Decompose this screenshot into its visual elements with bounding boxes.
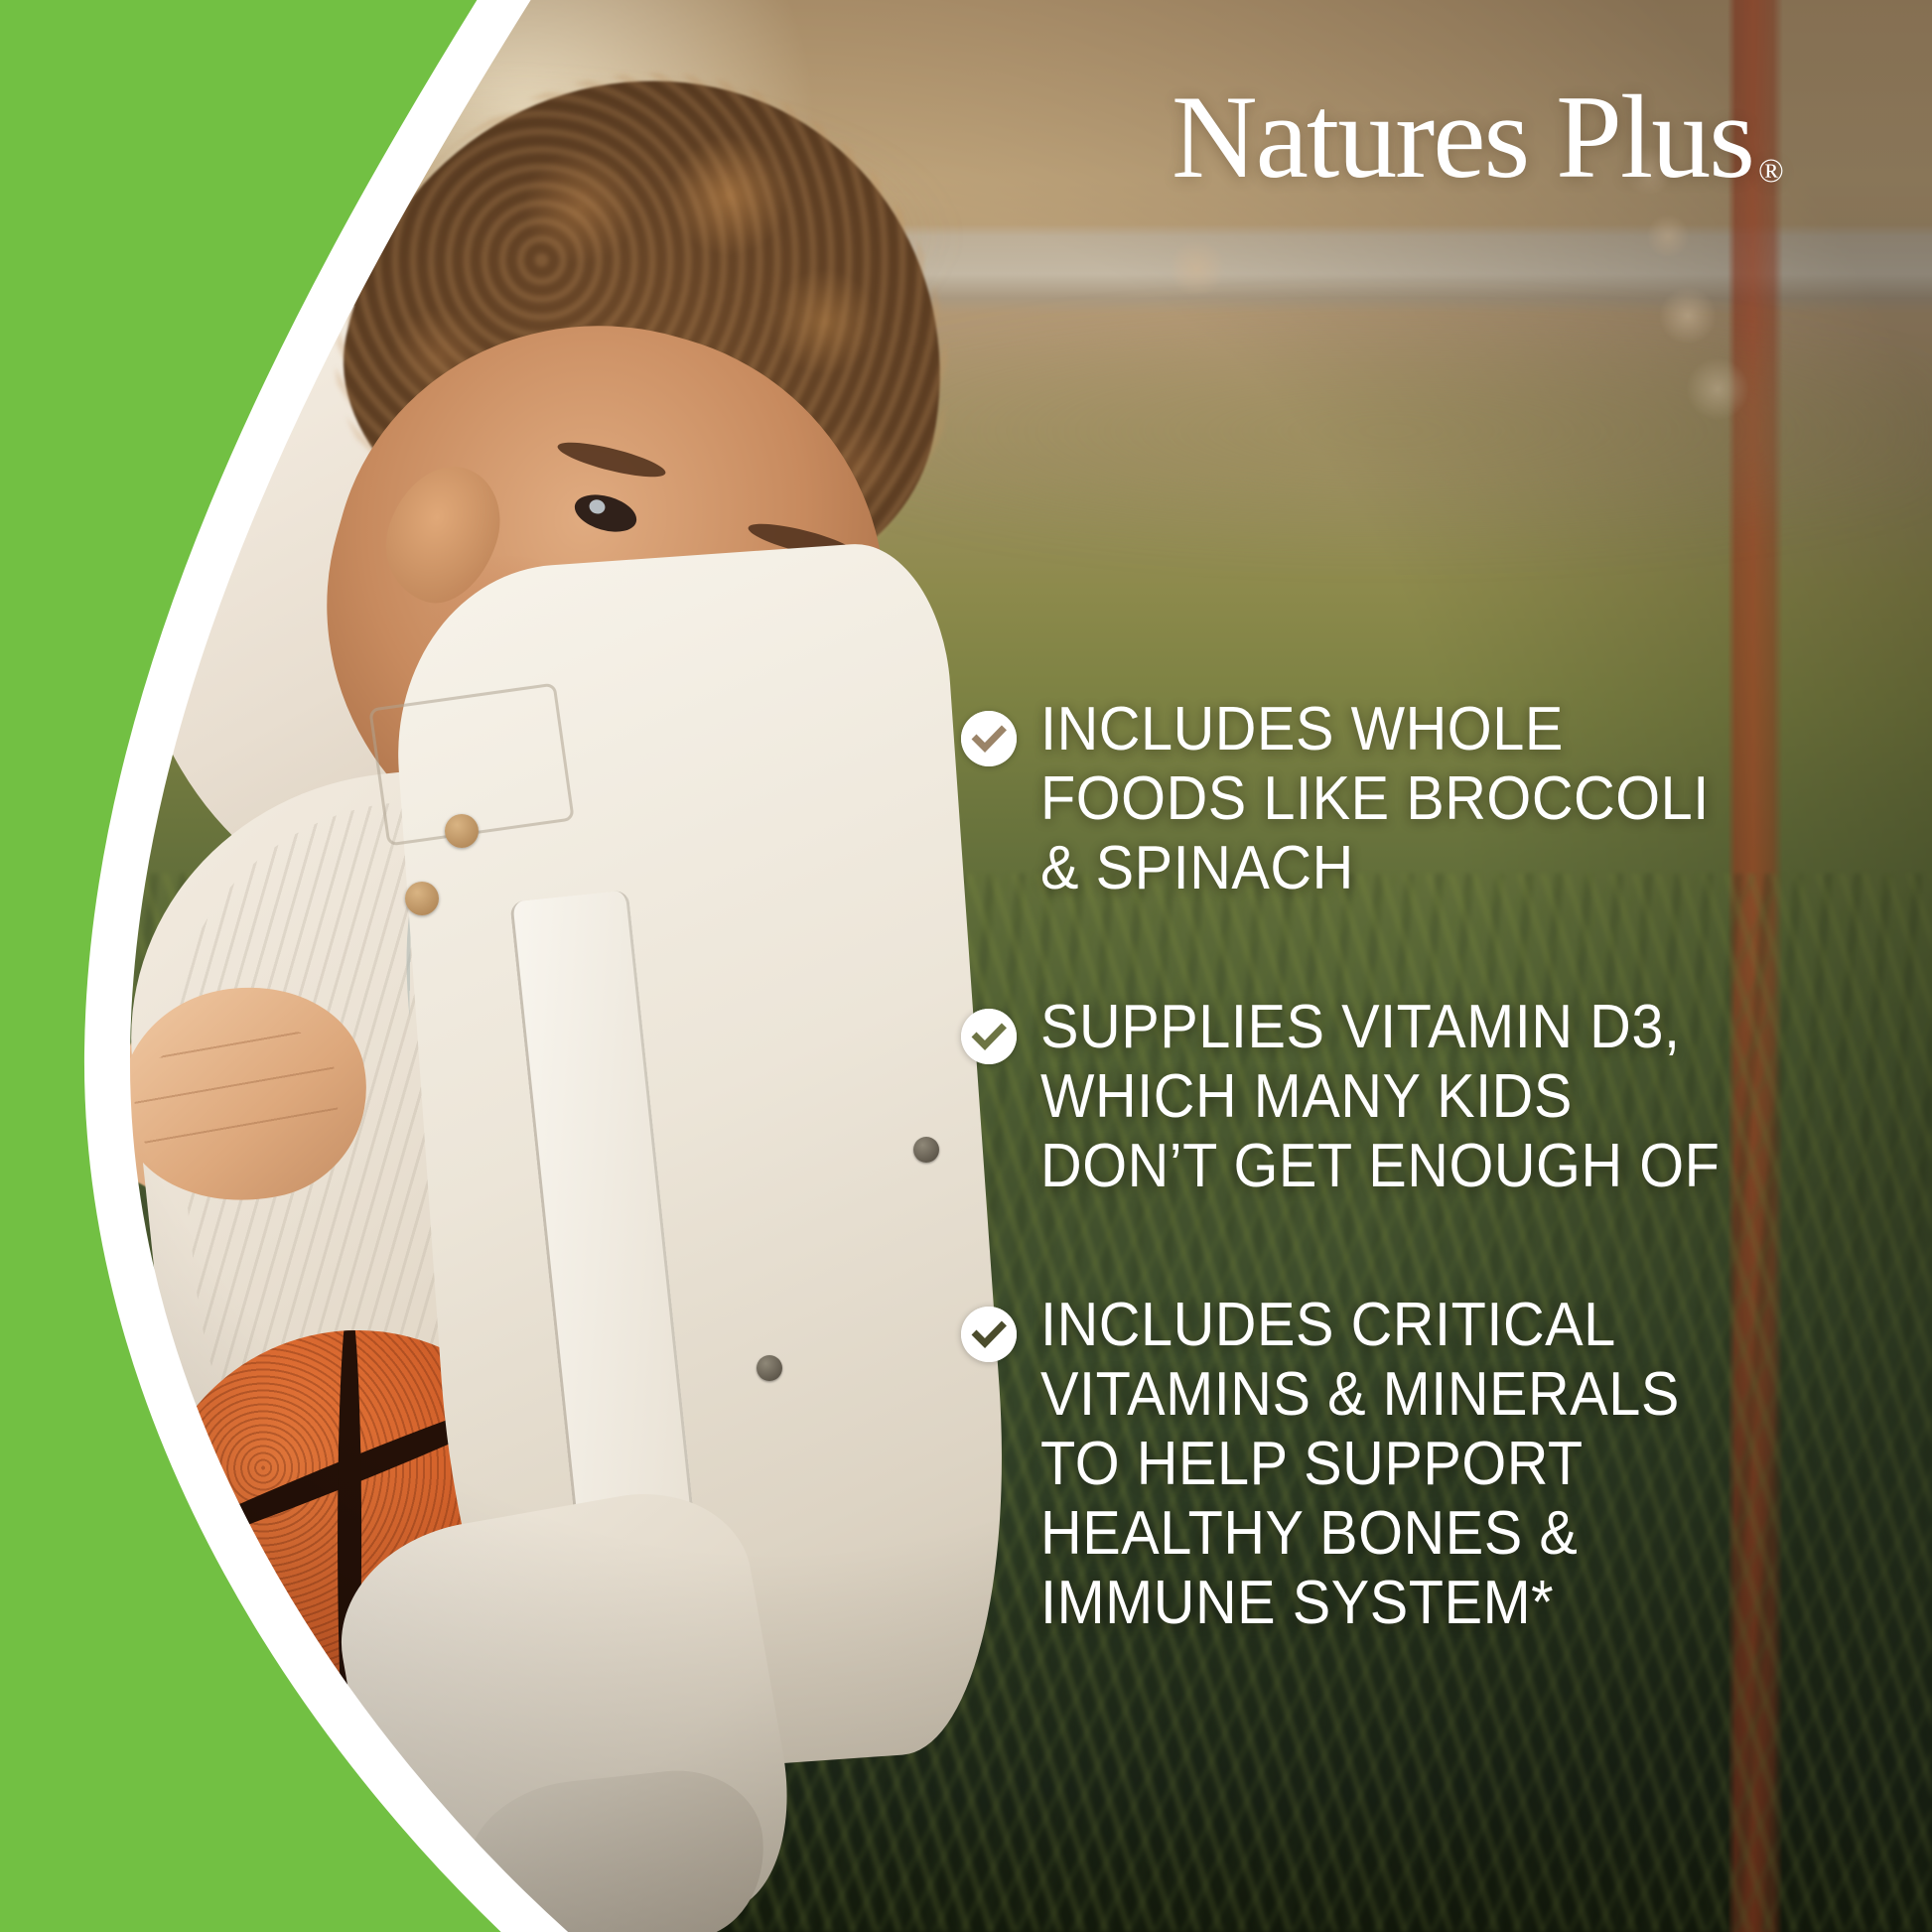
check-circle-icon — [961, 1009, 1017, 1064]
registered-trademark-icon: ® — [1758, 155, 1784, 189]
benefit-text: INCLUDES WHOLE FOODS LIKE BROCCOLI & SPI… — [1040, 695, 1710, 903]
benefit-item: SUPPLIES VITAMIN D3, WHICH MANY KIDS DON… — [961, 993, 1884, 1201]
brand-logo-text: Natures Plus — [1172, 77, 1753, 197]
check-circle-icon — [961, 711, 1017, 766]
benefit-text: INCLUDES CRITICAL VITAMINS & MINERALS TO… — [1040, 1291, 1680, 1638]
benefit-item: INCLUDES CRITICAL VITAMINS & MINERALS TO… — [961, 1291, 1884, 1638]
benefit-item: INCLUDES WHOLE FOODS LIKE BROCCOLI & SPI… — [961, 695, 1884, 903]
benefit-text: SUPPLIES VITAMIN D3, WHICH MANY KIDS DON… — [1040, 993, 1720, 1201]
benefits-list: INCLUDES WHOLE FOODS LIKE BROCCOLI & SPI… — [961, 695, 1884, 1639]
product-benefits-poster: Natures Plus ® INCLUDES WHOLE FOODS LIKE… — [0, 0, 1932, 1932]
brand-logo: Natures Plus ® — [1172, 77, 1784, 197]
check-circle-icon — [961, 1307, 1017, 1362]
